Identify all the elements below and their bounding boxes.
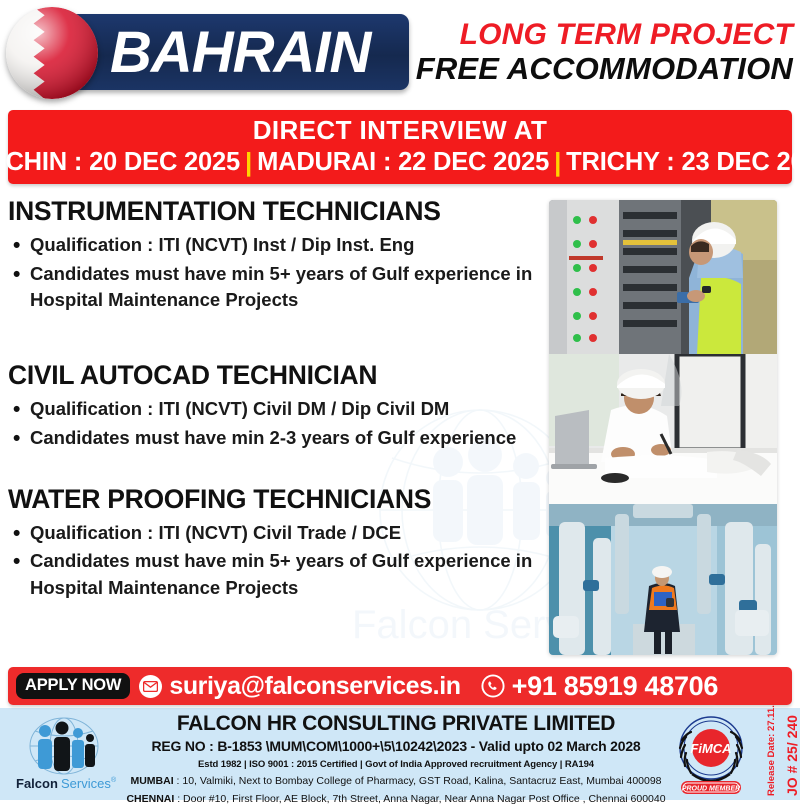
poster-footer: Falcon Services ® FALCON HR CONSULTING P… [0,708,800,800]
interview-banner: DIRECT INTERVIEW AT COCHIN : 20 DEC 2025… [8,110,792,184]
interview-city-madurai: MADURAI : 22 DEC 2025 [255,148,551,177]
header-tagline: LONG TERM PROJECT FREE ACCOMMODATION [418,12,793,94]
mumbai-label: MUMBAI [130,775,173,787]
whatsapp-icon [481,674,505,698]
svg-text:Services: Services [61,776,111,791]
poster-header: BAHRAIN LONG TERM PROJECT FREE ACCOMMODA… [0,0,800,104]
bahrain-flag-orb-icon [6,7,98,99]
job-requirement: Candidates must have min 5+ years of Gul… [8,548,548,601]
job-listings: INSTRUMENTATION TECHNICIANS Qualificatio… [8,196,548,604]
jo-number: JO # 25/ 240 [784,715,800,796]
tagline-free-accommodation: FREE ACCOMMODATION [416,52,793,87]
tagline-long-term-project: LONG TERM PROJECT [460,19,793,51]
job-title: CIVIL AUTOCAD TECHNICIAN [8,360,548,391]
interview-city-trichy: TRICHY : 23 DEC 2025 [564,148,800,177]
job-requirement: Qualification : ITI (NCVT) Inst / Dip In… [8,232,548,258]
badge-subtitle: PROUD MEMBER [682,786,740,793]
svg-text:®: ® [111,776,117,784]
photo-collage [549,200,777,655]
interview-city-cochin: COCHIN : 20 DEC 2025 [0,148,242,177]
job-requirement: Candidates must have min 5+ years of Gul… [8,261,548,314]
contact-phone[interactable]: +91 85919 48706 [512,671,718,702]
chennai-label: CHENNAI [126,793,174,805]
city-separator-icon: | [551,147,564,178]
country-label: BAHRAIN [110,14,410,90]
job-requirements-list: Qualification : ITI (NCVT) Civil Trade /… [8,520,548,601]
apply-now-button[interactable]: APPLY NOW [16,673,130,699]
company-name: FALCON HR CONSULTING PRIVATE LIMITED [126,712,666,736]
autocad-technician-photo [549,354,777,504]
job-block-water-proofing: WATER PROOFING TECHNICIANS Qualification… [8,484,548,601]
job-requirement: Candidates must have min 2-3 years of Gu… [8,425,548,451]
footer-company-details: FALCON HR CONSULTING PRIVATE LIMITED REG… [126,712,666,807]
job-advertisement-poster: Falcon Services [0,0,800,800]
registration-number: REG NO : B-1853 \MUM\COM\1000+\5\10242\2… [126,737,666,755]
badge-text: FiMCA [690,741,731,756]
job-requirement: Qualification : ITI (NCVT) Civil Trade /… [8,520,548,546]
fimca-proud-member-badge: FiMCA PROUD MEMBER [668,712,754,798]
waterproofing-technician-photo [549,504,777,655]
falcon-services-logo: Falcon Services ® [14,714,119,794]
interview-title: DIRECT INTERVIEW AT [253,116,548,145]
job-title: WATER PROOFING TECHNICIANS [8,484,548,515]
instrumentation-technician-photo [549,200,777,354]
job-title: INSTRUMENTATION TECHNICIANS [8,196,548,227]
interview-city-list: COCHIN : 20 DEC 2025 | MADURAI : 22 DEC … [8,147,792,178]
mumbai-address: MUMBAI : 10, Valmiki, Next to Bombay Col… [126,774,666,789]
chennai-address: CHENNAI : Door #10, First Floor, AE Bloc… [126,792,666,807]
chennai-address-text: : Door #10, First Floor, AE Block, 7th S… [174,793,665,805]
mumbai-address-text: : 10, Valmiki, Next to Bombay College of… [174,775,662,787]
company-credentials: Estd 1982 | ISO 9001 : 2015 Certified | … [126,759,666,771]
contact-email[interactable]: suriya@falconservices.in [169,672,460,701]
job-requirements-list: Qualification : ITI (NCVT) Inst / Dip In… [8,232,548,313]
job-requirements-list: Qualification : ITI (NCVT) Civil DM / Di… [8,396,548,451]
svg-text:Falcon: Falcon [16,776,58,791]
job-block-instrumentation: INSTRUMENTATION TECHNICIANS Qualificatio… [8,196,548,313]
contact-bar: APPLY NOW suriya@falconservices.in +91 8… [8,667,792,705]
job-requirement: Qualification : ITI (NCVT) Civil DM / Di… [8,396,548,422]
envelope-icon [139,675,162,698]
release-info: Release Date: 27.11.2025 JO # 25/ 240 [756,712,798,798]
job-block-civil-autocad: CIVIL AUTOCAD TECHNICIAN Qualification :… [8,360,548,451]
city-separator-icon: | [242,147,255,178]
